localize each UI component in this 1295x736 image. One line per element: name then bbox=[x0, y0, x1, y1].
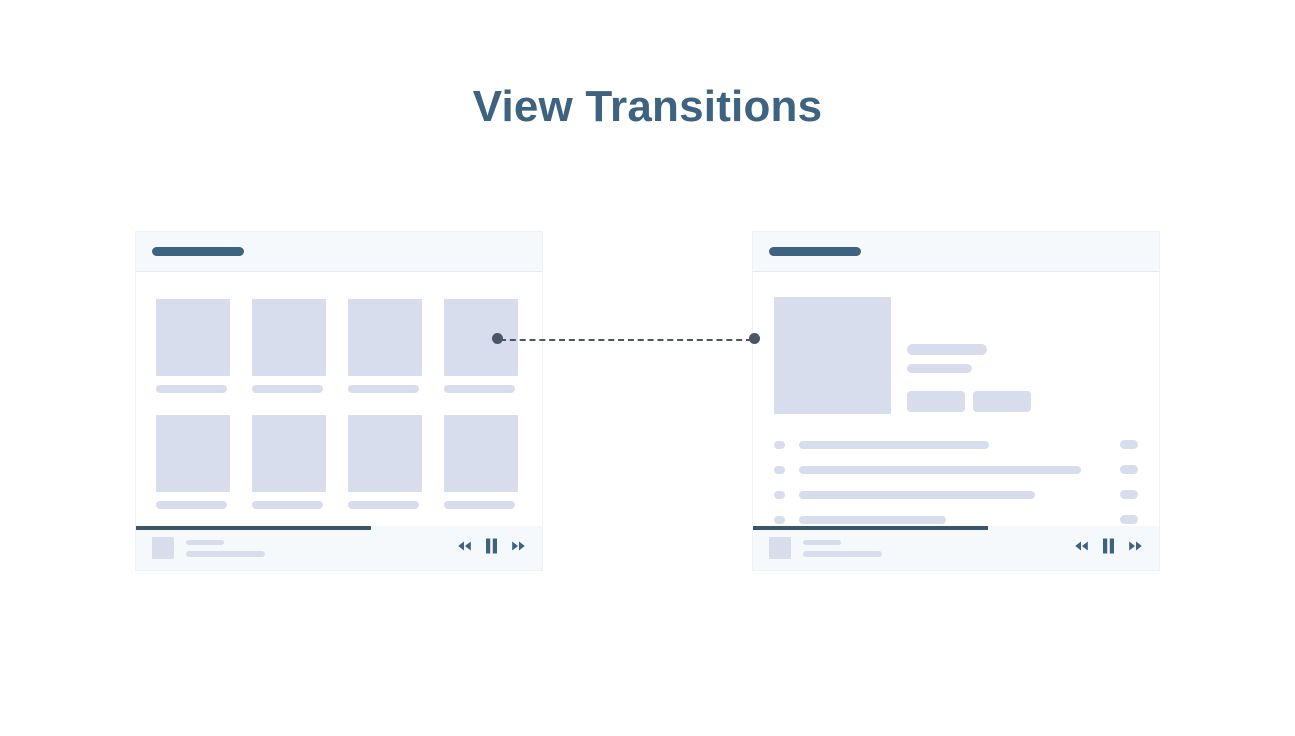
hero-meta bbox=[907, 297, 1097, 414]
list-item[interactable] bbox=[774, 515, 1138, 524]
card-thumbnail bbox=[348, 299, 422, 376]
grid-card[interactable] bbox=[156, 415, 230, 509]
list-item-label-wrap bbox=[799, 516, 1106, 524]
list-item-label-wrap bbox=[799, 441, 1106, 449]
card-thumbnail bbox=[348, 415, 422, 492]
grid-view-panel bbox=[135, 231, 543, 571]
card-caption bbox=[156, 385, 227, 393]
list-item-label-wrap bbox=[799, 466, 1106, 474]
list-item-dot bbox=[774, 491, 785, 499]
detail-view-player-footer bbox=[753, 526, 1159, 570]
list-item-dot bbox=[774, 441, 785, 449]
now-playing-thumbnail bbox=[769, 537, 791, 559]
grid-card[interactable] bbox=[252, 299, 326, 393]
grid-card[interactable] bbox=[348, 299, 422, 393]
card-thumbnail bbox=[444, 415, 518, 492]
page-title: View Transitions bbox=[0, 78, 1295, 136]
pause-icon[interactable] bbox=[1102, 538, 1115, 559]
list-item-duration bbox=[1120, 440, 1138, 449]
rewind-icon[interactable] bbox=[1074, 539, 1089, 557]
progress-bar-fill bbox=[753, 526, 988, 530]
card-caption bbox=[444, 385, 515, 393]
fast-forward-icon[interactable] bbox=[511, 539, 526, 557]
list-item-label bbox=[799, 441, 989, 449]
hero-title bbox=[907, 344, 987, 355]
card-caption bbox=[252, 385, 323, 393]
grid-card[interactable] bbox=[444, 415, 518, 509]
card-thumbnail bbox=[444, 299, 518, 376]
now-playing-subtitle bbox=[803, 551, 882, 557]
fast-forward-icon[interactable] bbox=[1128, 539, 1143, 557]
grid-view-player-footer bbox=[136, 526, 542, 570]
hero-image[interactable] bbox=[774, 297, 891, 414]
now-playing-title bbox=[186, 540, 224, 545]
list-item-duration bbox=[1120, 490, 1138, 499]
card-thumbnail bbox=[252, 415, 326, 492]
rewind-icon[interactable] bbox=[457, 539, 472, 557]
card-thumbnail bbox=[156, 415, 230, 492]
card-grid bbox=[156, 299, 522, 509]
list-item[interactable] bbox=[774, 465, 1138, 474]
card-thumbnail bbox=[156, 299, 230, 376]
grid-card[interactable] bbox=[252, 415, 326, 509]
pause-icon[interactable] bbox=[485, 538, 498, 559]
card-caption bbox=[444, 501, 515, 509]
grid-view-header bbox=[136, 232, 542, 272]
list-item-label bbox=[799, 516, 946, 524]
secondary-action-button[interactable] bbox=[973, 391, 1031, 412]
list-item[interactable] bbox=[774, 490, 1138, 499]
grid-view-body bbox=[136, 272, 542, 526]
player-controls bbox=[457, 538, 526, 559]
list-item-dot bbox=[774, 466, 785, 474]
app-title-bar bbox=[769, 247, 861, 256]
list-item-label-wrap bbox=[799, 491, 1106, 499]
primary-action-button[interactable] bbox=[907, 391, 965, 412]
now-playing-meta bbox=[186, 540, 265, 557]
progress-bar-fill bbox=[136, 526, 371, 530]
hero-actions bbox=[907, 391, 1097, 412]
app-title-bar bbox=[152, 247, 244, 256]
card-thumbnail bbox=[252, 299, 326, 376]
detail-view-header bbox=[753, 232, 1159, 272]
grid-card[interactable] bbox=[156, 299, 230, 393]
card-caption bbox=[348, 385, 419, 393]
card-grid-row bbox=[156, 415, 522, 509]
detail-hero bbox=[774, 297, 1097, 414]
now-playing-title bbox=[803, 540, 841, 545]
now-playing-meta bbox=[803, 540, 882, 557]
list-item-duration bbox=[1120, 465, 1138, 474]
detail-view-body bbox=[753, 272, 1159, 526]
card-caption bbox=[252, 501, 323, 509]
now-playing-subtitle bbox=[186, 551, 265, 557]
list-item-duration bbox=[1120, 515, 1138, 524]
progress-bar-track[interactable] bbox=[753, 526, 1159, 530]
progress-bar-track[interactable] bbox=[136, 526, 542, 530]
player-controls bbox=[1074, 538, 1143, 559]
hero-subtitle bbox=[907, 364, 972, 373]
card-caption bbox=[156, 501, 227, 509]
list-item-label bbox=[799, 491, 1035, 499]
detail-view-panel bbox=[752, 231, 1160, 571]
grid-card-transition-source[interactable] bbox=[444, 299, 518, 393]
list-item[interactable] bbox=[774, 440, 1138, 449]
track-list bbox=[774, 440, 1138, 524]
now-playing-thumbnail bbox=[152, 537, 174, 559]
grid-card[interactable] bbox=[348, 415, 422, 509]
list-item-label bbox=[799, 466, 1081, 474]
list-item-dot bbox=[774, 516, 785, 524]
card-caption bbox=[348, 501, 419, 509]
card-grid-row bbox=[156, 299, 522, 393]
